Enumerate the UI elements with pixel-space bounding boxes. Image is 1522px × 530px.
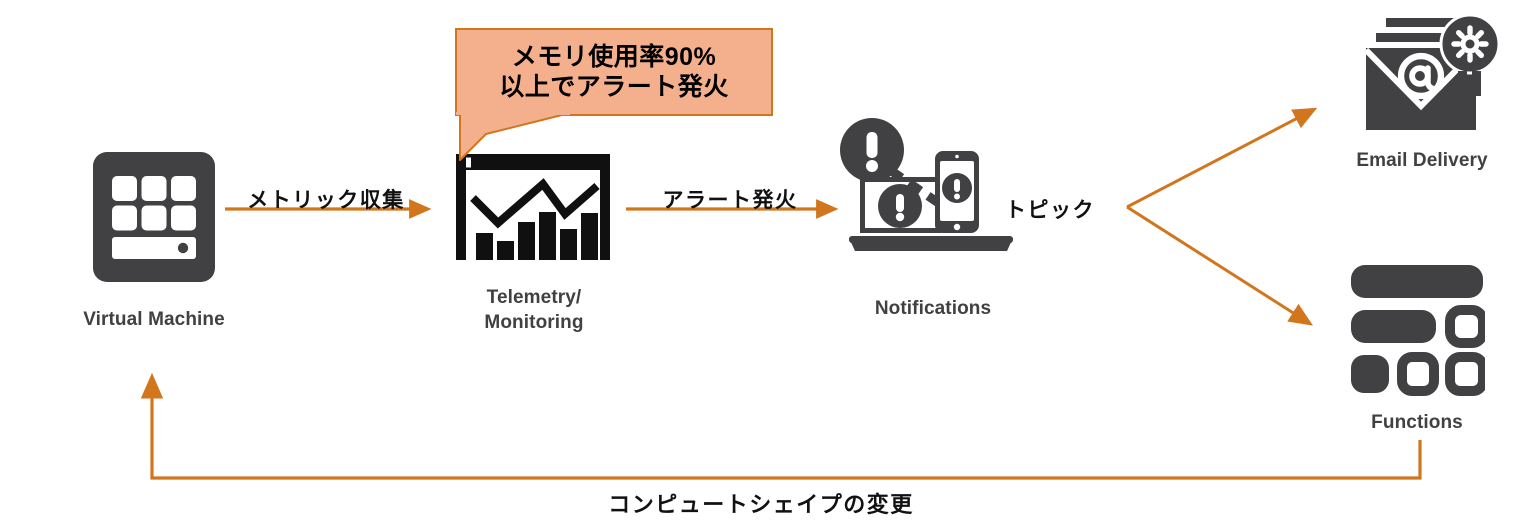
edge-label-metric-collection: メトリック収集 (226, 184, 426, 214)
virtual-machine-icon (93, 152, 215, 282)
arrow-topic-to-email (1127, 110, 1313, 207)
callout-line-1: メモリ使用率90% (512, 42, 717, 73)
email-delivery-icon (1348, 14, 1500, 138)
telemetry-monitoring-label: Telemetry/ Monitoring (434, 285, 634, 335)
arrow-functions-to-vm-feedback (152, 378, 1420, 478)
notifications-icon (840, 118, 1022, 284)
topic-edge-label: トピック (1005, 194, 1125, 224)
diagram-canvas: Virtual Machine Telemetry/ Monitoring メモ… (0, 0, 1522, 530)
feedback-loop-caption: コンピュートシェイプの変更 (0, 487, 1522, 519)
telemetry-monitoring-icon (452, 150, 616, 272)
notifications-label: Notifications (843, 296, 1023, 321)
edge-label-alert-fire: アラート発火 (630, 184, 830, 214)
functions-label: Functions (1317, 410, 1517, 435)
alert-threshold-callout: メモリ使用率90% 以上でアラート発火 (455, 28, 773, 116)
callout-line-2: 以上でアラート発火 (499, 72, 729, 103)
arrow-topic-to-functions (1127, 207, 1309, 323)
functions-icon (1349, 265, 1485, 400)
virtual-machine-label: Virtual Machine (44, 307, 264, 332)
email-delivery-label: Email Delivery (1322, 148, 1522, 173)
